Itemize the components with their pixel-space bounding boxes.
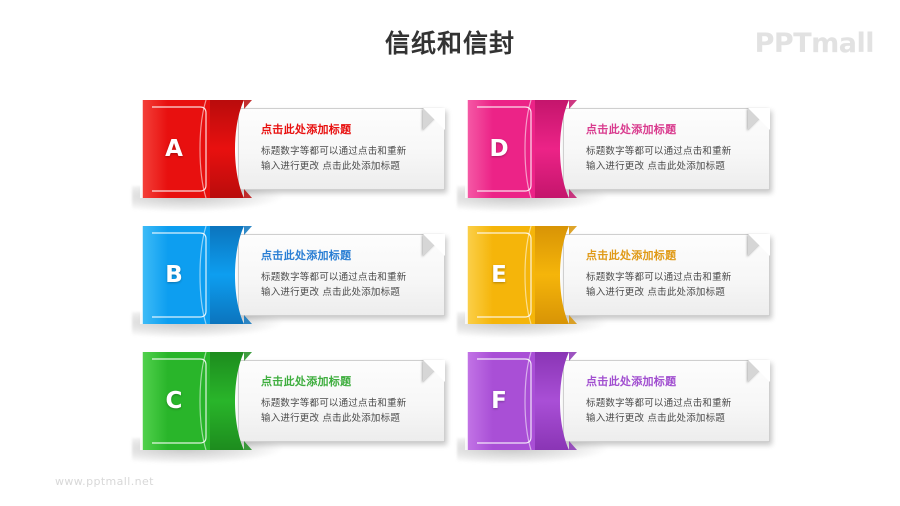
- paper-sheet: 点击此处添加标题 标题数字等都可以通过点击和重新 输入进行更改 点击此处添加标题: [238, 360, 445, 442]
- card-title-d: 点击此处添加标题: [586, 123, 755, 137]
- card-body-line-1: 标题数字等都可以通过点击和重新: [586, 270, 755, 285]
- card-body-line-2: 输入进行更改 点击此处添加标题: [261, 411, 430, 426]
- info-card-d[interactable]: 点击此处添加标题 标题数字等都可以通过点击和重新 输入进行更改 点击此处添加标题: [465, 100, 770, 198]
- card-body-e: 标题数字等都可以通过点击和重新 输入进行更改 点击此处添加标题: [586, 270, 755, 300]
- ribbon-shape-icon: [140, 352, 252, 450]
- letter-tab-b[interactable]: B: [140, 226, 252, 324]
- paper-sheet: 点击此处添加标题 标题数字等都可以通过点击和重新 输入进行更改 点击此处添加标题: [563, 234, 770, 316]
- card-title-c: 点击此处添加标题: [261, 375, 430, 389]
- paper-sheet: 点击此处添加标题 标题数字等都可以通过点击和重新 输入进行更改 点击此处添加标题: [238, 234, 445, 316]
- card-title-f: 点击此处添加标题: [586, 375, 755, 389]
- info-card-a[interactable]: 点击此处添加标题 标题数字等都可以通过点击和重新 输入进行更改 点击此处添加标题: [140, 100, 445, 198]
- card-body-line-2: 输入进行更改 点击此处添加标题: [586, 411, 755, 426]
- card-body-line-2: 输入进行更改 点击此处添加标题: [586, 285, 755, 300]
- card-body-line-1: 标题数字等都可以通过点击和重新: [586, 396, 755, 411]
- card-text-block: 点击此处添加标题 标题数字等都可以通过点击和重新 输入进行更改 点击此处添加标题: [586, 123, 755, 174]
- card-text-block: 点击此处添加标题 标题数字等都可以通过点击和重新 输入进行更改 点击此处添加标题: [261, 249, 430, 300]
- card-body-line-2: 输入进行更改 点击此处添加标题: [586, 159, 755, 174]
- card-body-line-1: 标题数字等都可以通过点击和重新: [586, 144, 755, 159]
- letter-tab-f[interactable]: F: [465, 352, 577, 450]
- ribbon-shape-icon: [465, 352, 577, 450]
- card-body-line-1: 标题数字等都可以通过点击和重新: [261, 270, 430, 285]
- card-grid: 点击此处添加标题 标题数字等都可以通过点击和重新 输入进行更改 点击此处添加标题: [0, 0, 900, 506]
- ribbon-shape-icon: [140, 100, 252, 198]
- card-title-b: 点击此处添加标题: [261, 249, 430, 263]
- letter-tab-e[interactable]: E: [465, 226, 577, 324]
- slide-canvas: 信纸和信封 PPTmall 点击此处添加标题 标题数字等都可以通过点击和重新 输…: [0, 0, 900, 506]
- info-card-b[interactable]: 点击此处添加标题 标题数字等都可以通过点击和重新 输入进行更改 点击此处添加标题: [140, 226, 445, 324]
- card-text-block: 点击此处添加标题 标题数字等都可以通过点击和重新 输入进行更改 点击此处添加标题: [261, 375, 430, 426]
- card-text-block: 点击此处添加标题 标题数字等都可以通过点击和重新 输入进行更改 点击此处添加标题: [586, 249, 755, 300]
- info-card-e[interactable]: 点击此处添加标题 标题数字等都可以通过点击和重新 输入进行更改 点击此处添加标题: [465, 226, 770, 324]
- letter-tab-c[interactable]: C: [140, 352, 252, 450]
- paper-sheet: 点击此处添加标题 标题数字等都可以通过点击和重新 输入进行更改 点击此处添加标题: [563, 108, 770, 190]
- info-card-c[interactable]: 点击此处添加标题 标题数字等都可以通过点击和重新 输入进行更改 点击此处添加标题: [140, 352, 445, 450]
- card-title-e: 点击此处添加标题: [586, 249, 755, 263]
- card-body-d: 标题数字等都可以通过点击和重新 输入进行更改 点击此处添加标题: [586, 144, 755, 174]
- card-body-line-1: 标题数字等都可以通过点击和重新: [261, 396, 430, 411]
- card-body-b: 标题数字等都可以通过点击和重新 输入进行更改 点击此处添加标题: [261, 270, 430, 300]
- footer-url: www.pptmall.net: [55, 475, 154, 488]
- card-body-c: 标题数字等都可以通过点击和重新 输入进行更改 点击此处添加标题: [261, 396, 430, 426]
- ribbon-shape-icon: [465, 226, 577, 324]
- card-body-a: 标题数字等都可以通过点击和重新 输入进行更改 点击此处添加标题: [261, 144, 430, 174]
- letter-tab-d[interactable]: D: [465, 100, 577, 198]
- card-body-line-2: 输入进行更改 点击此处添加标题: [261, 159, 430, 174]
- card-text-block: 点击此处添加标题 标题数字等都可以通过点击和重新 输入进行更改 点击此处添加标题: [261, 123, 430, 174]
- card-body-line-1: 标题数字等都可以通过点击和重新: [261, 144, 430, 159]
- card-body-f: 标题数字等都可以通过点击和重新 输入进行更改 点击此处添加标题: [586, 396, 755, 426]
- paper-sheet: 点击此处添加标题 标题数字等都可以通过点击和重新 输入进行更改 点击此处添加标题: [238, 108, 445, 190]
- card-body-line-2: 输入进行更改 点击此处添加标题: [261, 285, 430, 300]
- info-card-f[interactable]: 点击此处添加标题 标题数字等都可以通过点击和重新 输入进行更改 点击此处添加标题: [465, 352, 770, 450]
- card-text-block: 点击此处添加标题 标题数字等都可以通过点击和重新 输入进行更改 点击此处添加标题: [586, 375, 755, 426]
- paper-sheet: 点击此处添加标题 标题数字等都可以通过点击和重新 输入进行更改 点击此处添加标题: [563, 360, 770, 442]
- ribbon-shape-icon: [465, 100, 577, 198]
- card-title-a: 点击此处添加标题: [261, 123, 430, 137]
- ribbon-shape-icon: [140, 226, 252, 324]
- letter-tab-a[interactable]: A: [140, 100, 252, 198]
